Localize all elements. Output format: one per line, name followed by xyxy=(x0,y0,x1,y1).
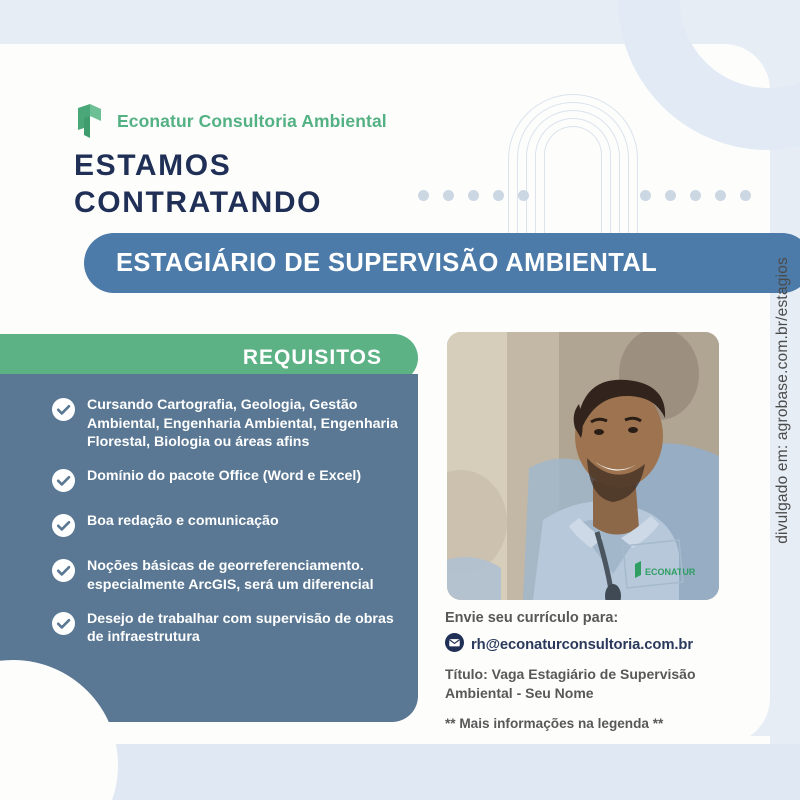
requirement-item: Noções básicas de georreferenciamento. e… xyxy=(52,557,404,594)
contact-block: Envie seu currículo para: rh@econaturcon… xyxy=(445,610,745,731)
headline-line-2: CONTRATANDO xyxy=(74,185,322,222)
check-circle-icon xyxy=(52,610,75,640)
requirement-text: Noções básicas de georreferenciamento. e… xyxy=(87,557,404,594)
brand-row: Econatur Consultoria Ambiental xyxy=(76,104,387,138)
headline-line-1: ESTAMOS xyxy=(74,148,322,185)
source-text: divulgado em: agrobase.com.br/estagios xyxy=(774,257,792,544)
requirement-text: Boa redação e comunicação xyxy=(87,512,279,531)
role-banner: ESTAGIÁRIO DE SUPERVISÃO AMBIENTAL xyxy=(84,233,800,293)
email-row[interactable]: rh@econaturconsultoria.com.br xyxy=(445,633,745,657)
requirement-item: Cursando Cartografia, Geologia, Gestão A… xyxy=(52,396,404,452)
requirement-item: Domínio do pacote Office (Word e Excel) xyxy=(52,467,404,497)
bottom-band xyxy=(0,744,800,800)
contact-note: ** Mais informações na legenda ** xyxy=(445,716,745,731)
requirements-list: Cursando Cartografia, Geologia, Gestão A… xyxy=(52,396,404,662)
requirement-item: Boa redação e comunicação xyxy=(52,512,404,542)
requirement-text: Domínio do pacote Office (Word e Excel) xyxy=(87,467,361,486)
source-attribution: divulgado em: agrobase.com.br/estagios xyxy=(765,0,800,800)
decorative-dots-left xyxy=(418,190,529,201)
decorative-dots-right xyxy=(640,190,751,201)
requirement-text: Cursando Cartografia, Geologia, Gestão A… xyxy=(87,396,404,452)
requirement-item: Desejo de trabalhar com supervisão de ob… xyxy=(52,610,404,647)
job-posting-poster: Econatur Consultoria Ambiental ESTAMOS C… xyxy=(0,0,800,800)
contact-lead: Envie seu currículo para: xyxy=(445,610,745,626)
check-circle-icon xyxy=(52,467,75,497)
employee-photo: ECONATUR xyxy=(447,332,719,600)
decorative-arches xyxy=(508,92,638,242)
requirement-text: Desejo de trabalhar com supervisão de ob… xyxy=(87,610,404,647)
contact-subject-line: Título: Vaga Estagiário de Supervisão Am… xyxy=(445,665,745,703)
envelope-icon xyxy=(445,633,464,657)
check-circle-icon xyxy=(52,557,75,587)
check-circle-icon xyxy=(52,512,75,542)
svg-text:ECONATUR: ECONATUR xyxy=(645,567,696,577)
leaf-arrow-logo-icon xyxy=(76,104,103,138)
check-circle-icon xyxy=(52,396,75,426)
contact-email[interactable]: rh@econaturconsultoria.com.br xyxy=(471,637,693,653)
page-title: ESTAMOS CONTRATANDO xyxy=(74,148,322,221)
brand-name: Econatur Consultoria Ambiental xyxy=(117,111,387,132)
role-title: ESTAGIÁRIO DE SUPERVISÃO AMBIENTAL xyxy=(116,249,657,278)
requirements-header-label: REQUISITOS xyxy=(243,346,382,370)
